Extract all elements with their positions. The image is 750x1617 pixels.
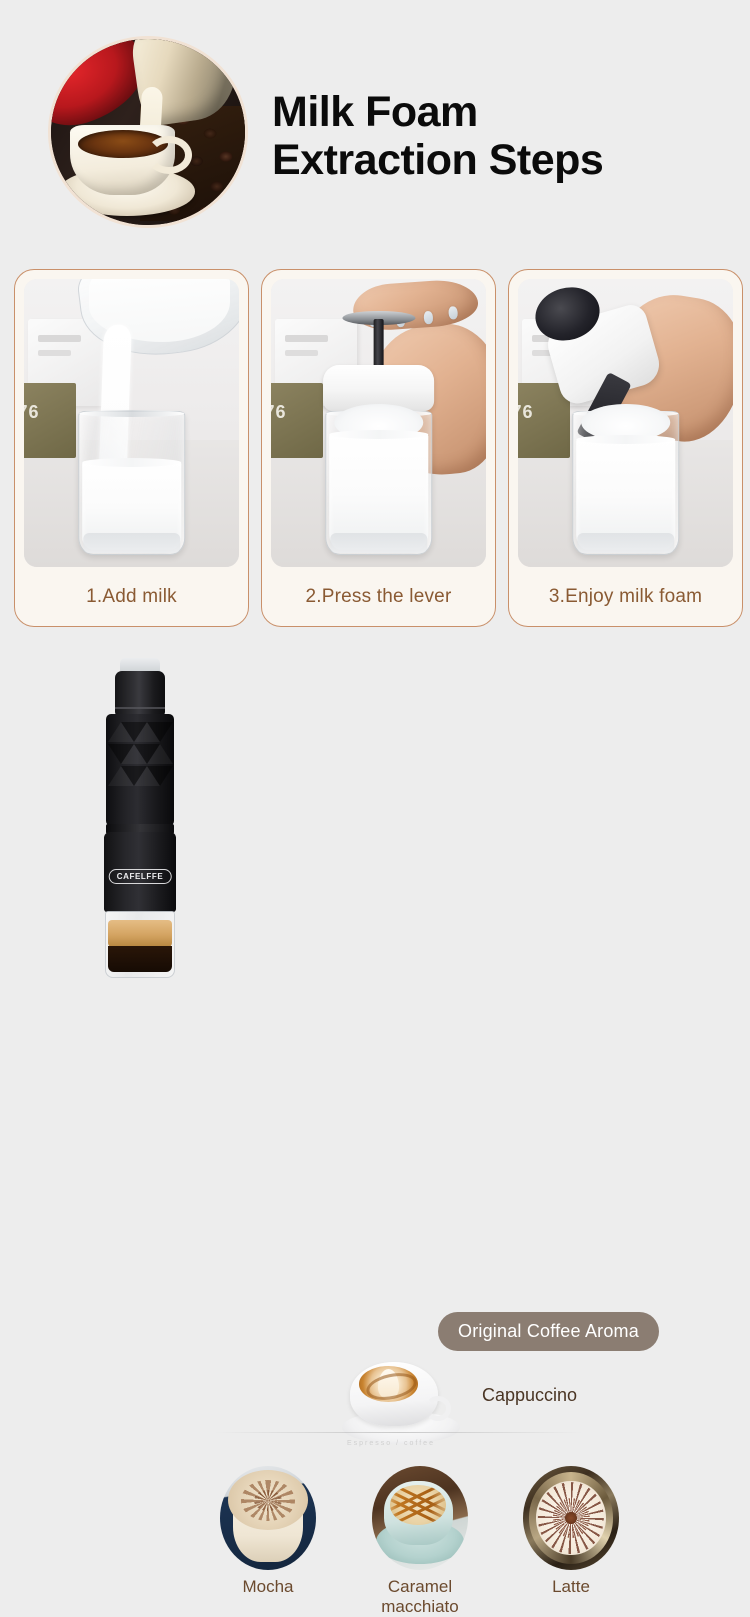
watermark-text: Espresso / coffee bbox=[347, 1440, 435, 1447]
step-2-caption: 2.Press the lever bbox=[262, 567, 495, 626]
step-3-image: 76 bbox=[518, 279, 733, 567]
glass-base bbox=[577, 533, 674, 553]
machine-facet-pattern bbox=[106, 714, 174, 826]
mocha-image bbox=[220, 1466, 316, 1570]
mocha-label: Mocha bbox=[216, 1577, 320, 1597]
machine-cap bbox=[115, 671, 165, 716]
latte-label: Latte bbox=[519, 1577, 623, 1597]
product-section: CAFELFFE Original Coffee Aroma Cappuccin… bbox=[0, 640, 750, 1000]
milk-surface bbox=[82, 458, 181, 467]
latte-art-center bbox=[565, 1512, 576, 1524]
latte-surface bbox=[536, 1481, 605, 1556]
facet-decor bbox=[147, 722, 173, 742]
cappuccino-cup bbox=[350, 1362, 437, 1426]
cup-handle-decor bbox=[146, 136, 192, 174]
cappuccino-latte-art bbox=[359, 1366, 418, 1402]
drink-variants-row: Mocha Caramel macchiato bbox=[0, 1466, 750, 1606]
page-title: Milk Foam Extraction Steps bbox=[272, 88, 603, 184]
caramel-macchiato-image bbox=[372, 1466, 468, 1570]
khaki-box-label: 76 bbox=[24, 402, 40, 423]
cappuccino-label: Cappuccino bbox=[482, 1385, 577, 1406]
glass-base bbox=[83, 533, 180, 553]
facet-decor bbox=[147, 766, 173, 786]
caramel-macchiato-label: Caramel macchiato bbox=[368, 1577, 472, 1617]
header-section: Milk Foam Extraction Steps bbox=[0, 0, 750, 250]
aroma-badge: Original Coffee Aroma bbox=[438, 1312, 659, 1351]
machine-body bbox=[106, 714, 174, 826]
glass-tumbler bbox=[572, 411, 680, 555]
hero-coffee-image bbox=[48, 36, 248, 228]
khaki-box-label: 76 bbox=[518, 402, 534, 423]
step-card-2[interactable]: 76 2.Press the lever bbox=[261, 269, 496, 627]
step-1-caption: 1.Add milk bbox=[15, 567, 248, 626]
variant-latte[interactable]: Latte bbox=[519, 1466, 623, 1597]
fingernail-decor bbox=[423, 311, 433, 325]
khaki-box-decor: 76 bbox=[24, 383, 76, 458]
facet-decor bbox=[147, 744, 173, 764]
step-card-1[interactable]: 76 1.Add milk bbox=[14, 269, 249, 627]
latte-image bbox=[523, 1466, 619, 1570]
cappuccino-handle bbox=[425, 1396, 451, 1421]
espresso-liquid bbox=[108, 946, 172, 972]
glass-tumbler bbox=[325, 411, 433, 555]
crema-layer bbox=[108, 920, 172, 947]
steps-section: 76 1.Add milk 76 bbox=[0, 269, 750, 631]
step-card-3[interactable]: 76 3.Enjoy milk foam bbox=[508, 269, 743, 627]
coffee-cup-decor bbox=[70, 125, 175, 196]
step-3-caption: 3.Enjoy milk foam bbox=[509, 567, 742, 626]
glass-tumbler bbox=[78, 411, 186, 555]
step-1-image: 76 bbox=[24, 279, 239, 567]
foam-surface bbox=[576, 435, 675, 444]
glass-base bbox=[330, 533, 427, 553]
espresso-cup bbox=[105, 911, 175, 978]
variant-mocha[interactable]: Mocha bbox=[216, 1466, 320, 1597]
section-divider bbox=[215, 1432, 583, 1433]
caramel-drizzle-art bbox=[390, 1485, 445, 1525]
step-2-image: 76 bbox=[271, 279, 486, 567]
espresso-machine-image: CAFELFFE bbox=[94, 658, 186, 978]
page-title-line1: Milk Foam bbox=[272, 88, 478, 136]
machine-brand-logo: CAFELFFE bbox=[109, 869, 172, 884]
mocha-cocoa-swirl bbox=[241, 1480, 296, 1521]
variant-caramel-macchiato[interactable]: Caramel macchiato bbox=[368, 1466, 472, 1617]
page-title-line2: Extraction Steps bbox=[272, 136, 603, 184]
caramel-cup bbox=[384, 1481, 453, 1545]
khaki-box-decor: 76 bbox=[271, 383, 323, 458]
foam-surface bbox=[329, 430, 428, 439]
fingernail-decor bbox=[448, 306, 458, 320]
khaki-box-label: 76 bbox=[271, 402, 287, 423]
